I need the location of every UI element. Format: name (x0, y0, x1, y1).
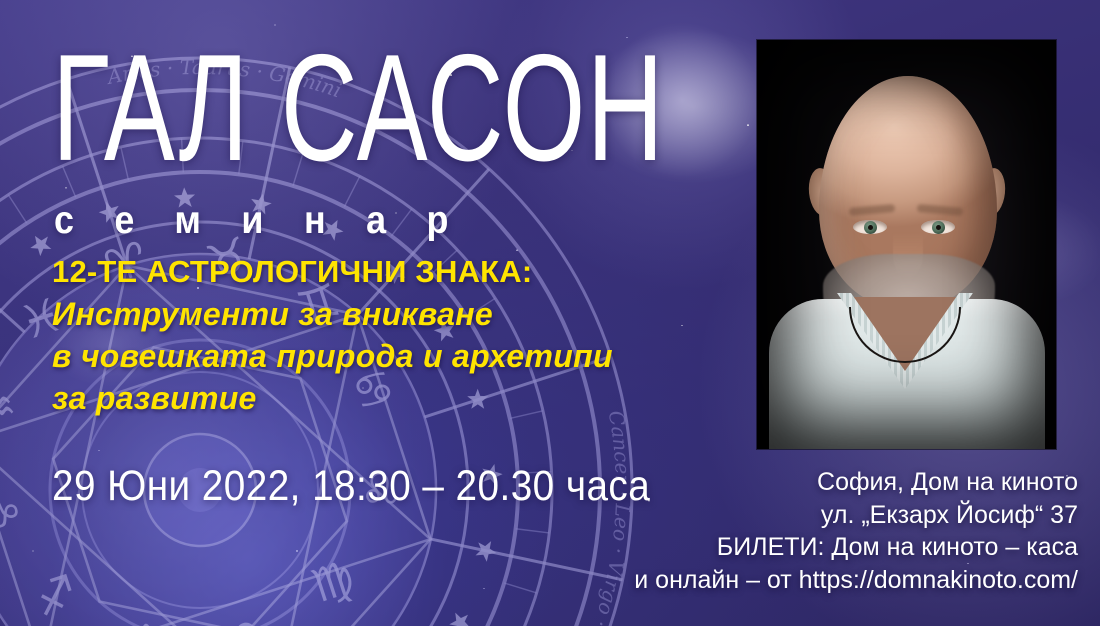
page-title: ГАЛ САСОН (52, 32, 665, 184)
tickets-online-link[interactable]: и онлайн – от https://domnakinoto.com/ (634, 564, 1078, 597)
event-type-label: семинар (54, 199, 489, 243)
event-poster: ♈ ♉ ♊ ♋ ♌ ♍ ♎ ♏ ♐ ♑ ♒ ♓ (0, 0, 1100, 626)
venue-city-place: София, Дом на киното (634, 466, 1078, 499)
subtitle-line-1: Инструменти за вникване (52, 293, 742, 335)
venue-info: София, Дом на киното ул. „Екзарх Йосиф“ … (634, 466, 1078, 596)
seminar-subtitle: 12-ТЕ АСТРОЛОГИЧНИ ЗНАКА: Инструменти за… (52, 252, 742, 420)
speaker-portrait (757, 40, 1056, 449)
tickets-box-office: БИЛЕТИ: Дом на киното – каса (634, 531, 1078, 564)
portrait-eye-left (853, 220, 887, 234)
portrait-eye-right (921, 220, 955, 234)
event-datetime: 29 Юни 2022, 18:30 – 20.30 часа (52, 462, 650, 511)
subtitle-heading: 12-ТЕ АСТРОЛОГИЧНИ ЗНАКА: (52, 252, 742, 293)
subtitle-line-3: за развитие (52, 377, 742, 419)
venue-address: ул. „Екзарх Йосиф“ 37 (634, 499, 1078, 532)
subtitle-line-2: в човешката природа и архетипи (52, 335, 742, 377)
